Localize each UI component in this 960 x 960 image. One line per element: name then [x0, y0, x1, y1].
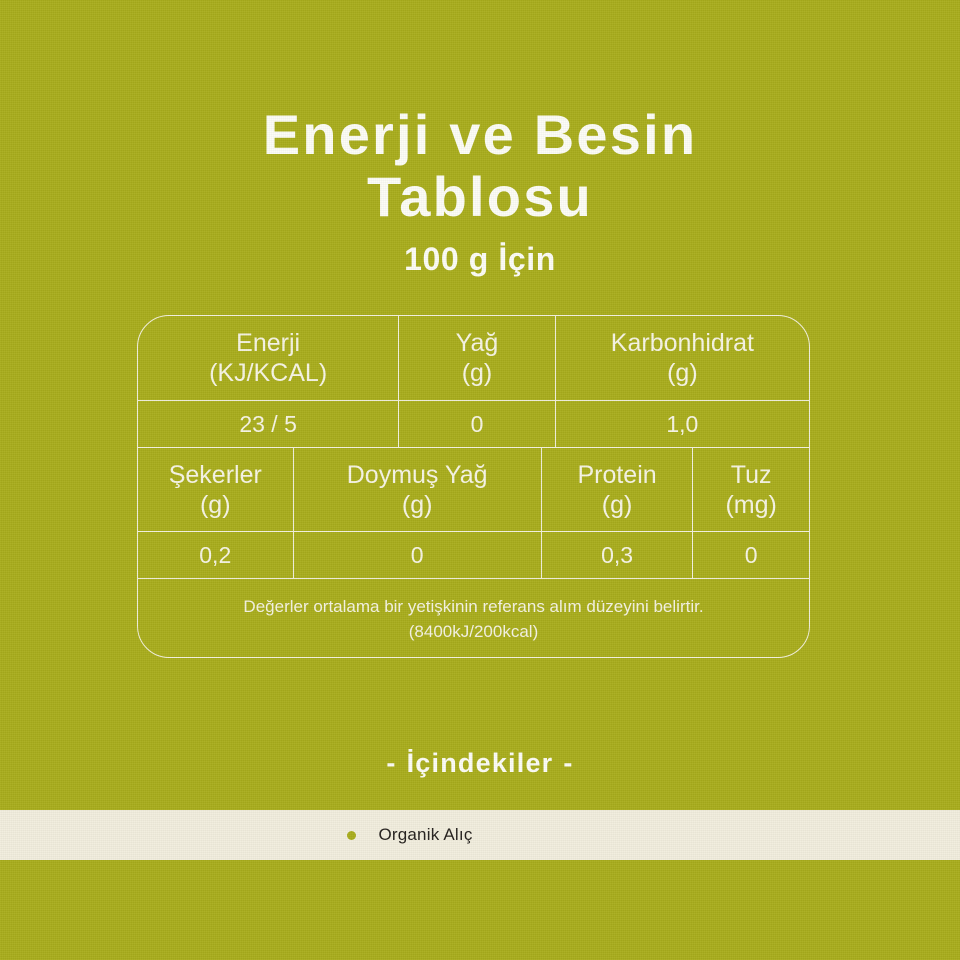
list-item: Organik Alıç — [347, 825, 472, 845]
header-cell-name: Doymuş Yağ — [347, 460, 488, 490]
header-cell-protein: Protein (g) — [541, 448, 693, 531]
header-cell-unit: (KJ/KCAL) — [209, 358, 327, 388]
bullet-icon — [347, 831, 356, 840]
header-cell-yag: Yağ (g) — [398, 316, 555, 400]
value-cell-yag: 0 — [398, 401, 555, 447]
ingredient-label: Organik Alıç — [378, 825, 472, 845]
header-cell-enerji: Enerji (KJ/KCAL) — [138, 316, 398, 400]
ingredients-heading: -İçindekiler- — [0, 748, 960, 779]
header-cell-unit: (g) — [200, 490, 231, 520]
value-cell-tuz: 0 — [692, 532, 809, 578]
header-cell-unit: (g) — [462, 358, 493, 388]
ingredients-list: Organik Alıç — [0, 810, 960, 860]
table-value-row-secondary: 0,2 0 0,3 0 — [138, 531, 809, 578]
header-cell-doymus-yag: Doymuş Yağ (g) — [293, 448, 541, 531]
header-cell-name: Yağ — [456, 328, 499, 358]
nutrition-table: Enerji (KJ/KCAL) Yağ (g) Karbonhidrat (g… — [137, 315, 810, 658]
value-cell-karbonhidrat: 1,0 — [555, 401, 809, 447]
value-cell-protein: 0,3 — [541, 532, 693, 578]
header-cell-name: Şekerler — [169, 460, 262, 490]
page-header: Enerji ve Besin Tablosu 100 g İçin — [0, 104, 960, 278]
value-cell-sekerler: 0,2 — [138, 532, 293, 578]
header-cell-name: Karbonhidrat — [611, 328, 754, 358]
footnote-line-1: Değerler ortalama bir yetişkinin referan… — [243, 594, 703, 619]
header-cell-unit: (g) — [602, 490, 633, 520]
header-cell-name: Enerji — [236, 328, 300, 358]
table-footnote: Değerler ortalama bir yetişkinin referan… — [138, 578, 809, 658]
header-cell-unit: (g) — [667, 358, 698, 388]
dash-left: - — [376, 748, 406, 779]
value-cell-enerji: 23 / 5 — [138, 401, 398, 447]
header-cell-name: Tuz — [731, 460, 772, 490]
header-cell-unit: (mg) — [725, 490, 776, 520]
ingredients-heading-label: İçindekiler — [407, 748, 554, 778]
dash-right: - — [553, 748, 583, 779]
header-cell-name: Protein — [577, 460, 656, 490]
header-cell-sekerler: Şekerler (g) — [138, 448, 293, 531]
table-header-row-primary: Enerji (KJ/KCAL) Yağ (g) Karbonhidrat (g… — [138, 316, 809, 400]
value-cell-doymus-yag: 0 — [293, 532, 541, 578]
header-cell-tuz: Tuz (mg) — [692, 448, 809, 531]
table-value-row-primary: 23 / 5 0 1,0 — [138, 400, 809, 447]
table-header-row-secondary: Şekerler (g) Doymuş Yağ (g) Protein (g) … — [138, 447, 809, 531]
header-cell-karbonhidrat: Karbonhidrat (g) — [555, 316, 809, 400]
page-title: Enerji ve Besin Tablosu — [0, 104, 960, 228]
footnote-line-2: (8400kJ/200kcal) — [409, 619, 538, 644]
page-subtitle: 100 g İçin — [0, 240, 960, 278]
header-cell-unit: (g) — [402, 490, 433, 520]
